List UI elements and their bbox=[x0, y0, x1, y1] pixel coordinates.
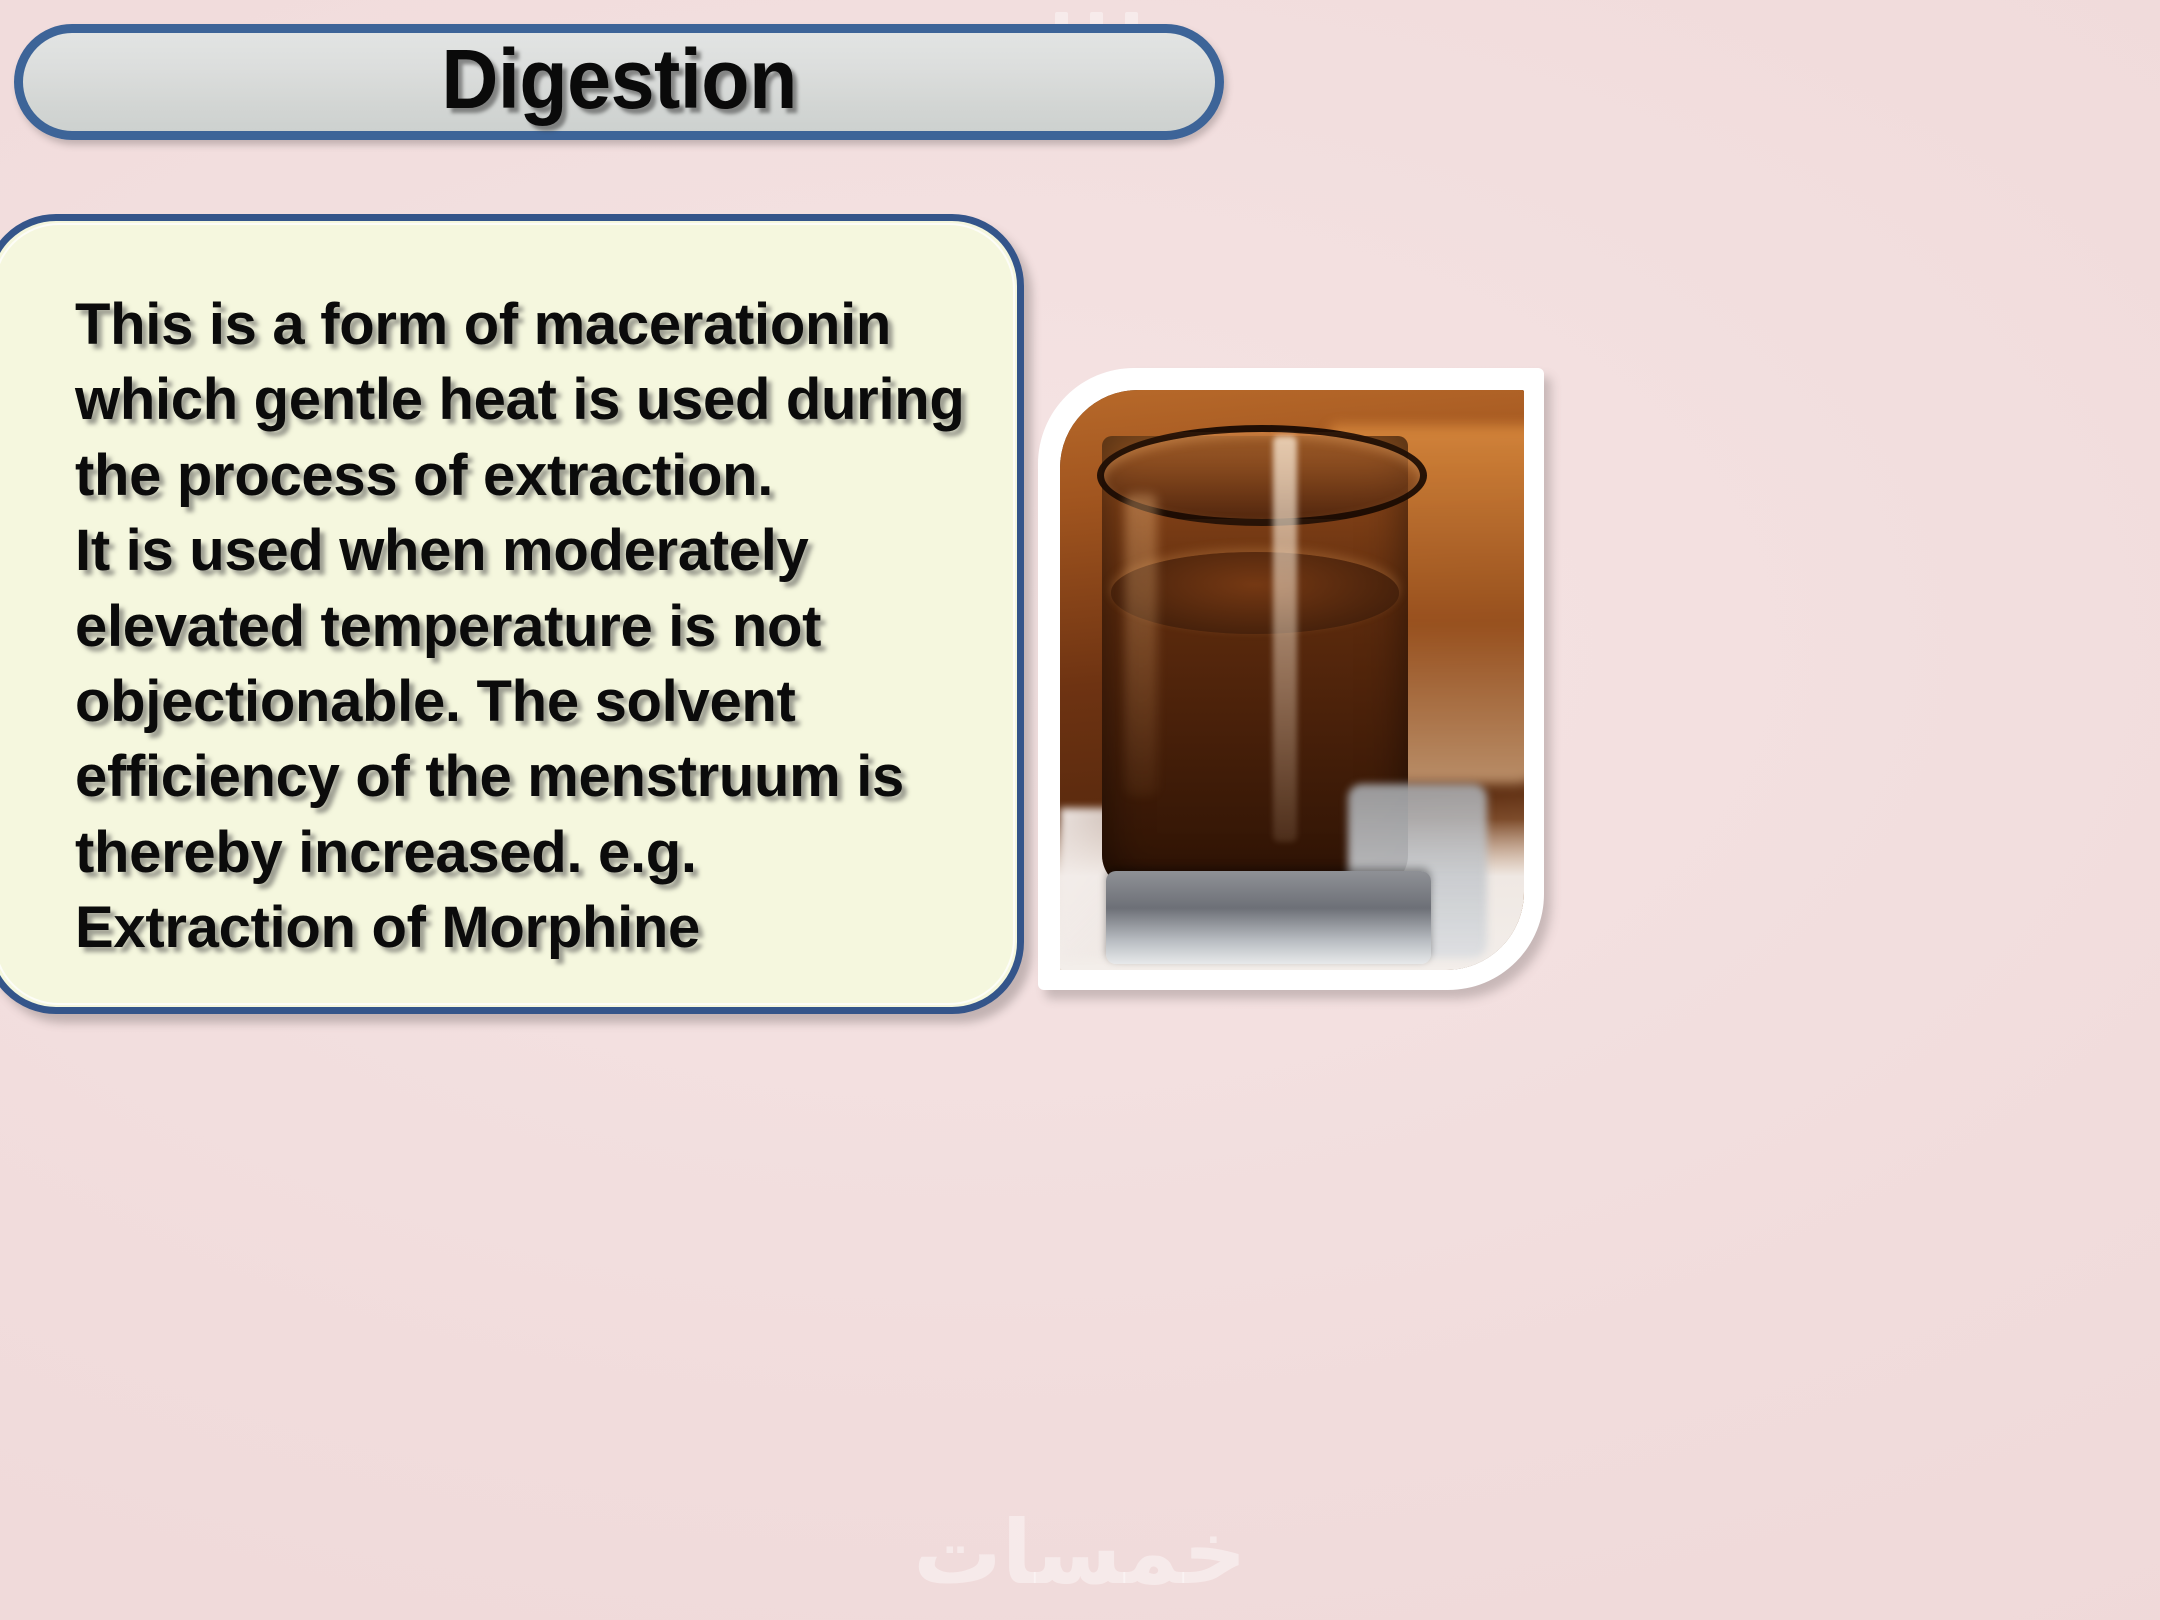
body-text-card: This is a form of macerationin which gen… bbox=[0, 214, 1024, 1014]
photo-glass-highlight bbox=[1273, 436, 1296, 842]
photo-hotplate bbox=[1106, 871, 1431, 964]
body-paragraph: This is a form of macerationin which gen… bbox=[75, 287, 991, 966]
title-banner: Digestion bbox=[14, 24, 1224, 140]
photo-frame bbox=[1038, 368, 1544, 990]
watermark-text: خمسات bbox=[0, 1501, 2160, 1604]
beaker-photo bbox=[1060, 390, 1524, 970]
photo-glass-highlight-secondary bbox=[1125, 494, 1157, 796]
page-title: Digestion bbox=[441, 31, 796, 134]
slide-canvas: Digestion This is a form of macerationin… bbox=[0, 0, 2160, 1620]
